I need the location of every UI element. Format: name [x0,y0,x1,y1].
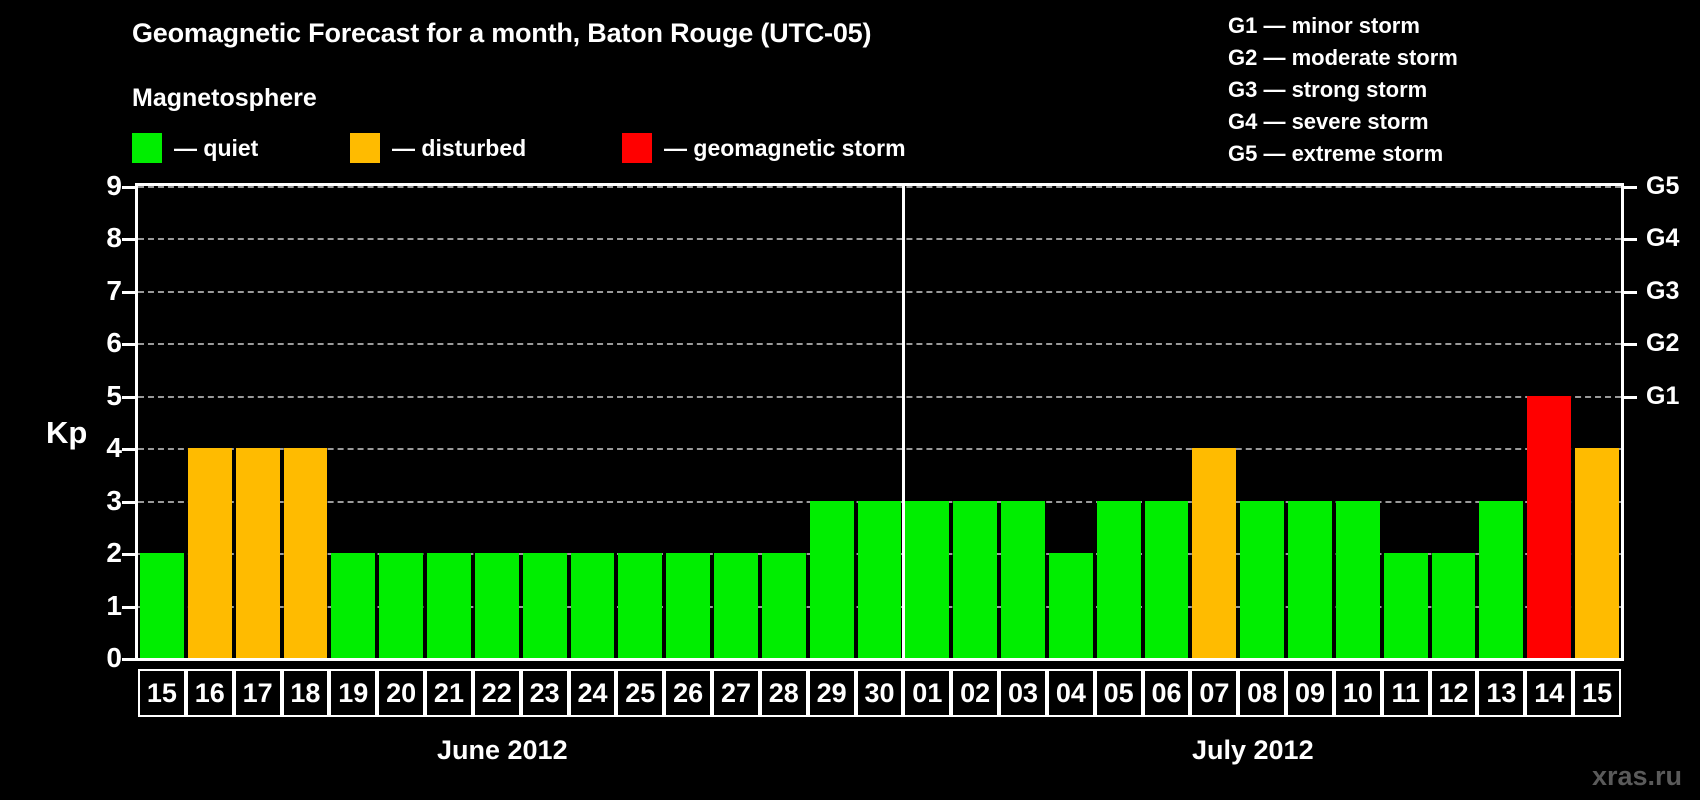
month-caption-june: June 2012 [437,735,568,766]
date-label-22-7[interactable]: 22 [473,669,521,717]
bar-17[interactable] [236,448,280,658]
bar-21[interactable] [427,553,471,658]
bar-12[interactable] [1432,553,1476,658]
g-tick-mark-g5 [1624,186,1637,189]
g-scale-legend-row-g4: G4 — severe storm [1228,106,1458,138]
date-label-18-3[interactable]: 18 [282,669,330,717]
bar-13[interactable] [1479,501,1523,658]
g-tick-mark-g1 [1624,396,1637,399]
bar-04[interactable] [1049,553,1093,658]
bar-09[interactable] [1288,501,1332,658]
date-label-10-25[interactable]: 10 [1334,669,1382,717]
date-label-06-21[interactable]: 06 [1143,669,1191,717]
y-tick-label-8: 8 [82,224,122,252]
date-axis: 1516171819202122232425262728293001020304… [135,669,1624,717]
legend-item-storm: — geomagnetic storm [622,133,906,163]
bar-02[interactable] [953,501,997,658]
y-tick-mark-9 [122,186,135,189]
g-scale-legend-row-g3: G3 — strong storm [1228,74,1458,106]
date-label-30-15[interactable]: 30 [856,669,904,717]
y-tick-label-0: 0 [82,644,122,672]
y-tick-label-9: 9 [82,172,122,200]
g-scale-legend-row-g5: G5 — extreme storm [1228,138,1458,170]
y-tick-mark-3 [122,501,135,504]
date-label-28-13[interactable]: 28 [760,669,808,717]
date-label-16-1[interactable]: 16 [186,669,234,717]
date-label-23-8[interactable]: 23 [521,669,569,717]
g-tick-label-g1: G1 [1646,384,1679,409]
date-label-09-24[interactable]: 09 [1286,669,1334,717]
g-tick-label-g5: G5 [1646,174,1679,199]
bar-24[interactable] [571,553,615,658]
bar-15[interactable] [1575,448,1619,658]
date-label-17-2[interactable]: 17 [234,669,282,717]
bar-16[interactable] [188,448,232,658]
g-tick-label-g4: G4 [1646,226,1679,251]
magnetosphere-label: Magnetosphere [132,84,317,113]
bar-23[interactable] [523,553,567,658]
date-label-15-0[interactable]: 15 [138,669,186,717]
legend-swatch-quiet-icon [132,133,162,163]
g-scale-legend-row-g1: G1 — minor storm [1228,10,1458,42]
bar-30[interactable] [858,501,902,658]
y-tick-mark-2 [122,553,135,556]
bar-29[interactable] [810,501,854,658]
bar-05[interactable] [1097,501,1141,658]
g-tick-label-g2: G2 [1646,331,1679,356]
date-label-12-27[interactable]: 12 [1430,669,1478,717]
page-title: Geomagnetic Forecast for a month, Baton … [132,18,871,49]
date-label-04-19[interactable]: 04 [1047,669,1095,717]
date-label-14-29[interactable]: 14 [1525,669,1573,717]
bar-27[interactable] [714,553,758,658]
bar-08[interactable] [1240,501,1284,658]
date-label-15-30[interactable]: 15 [1573,669,1621,717]
y-tick-mark-4 [122,448,135,451]
bars-layer [138,186,1621,658]
legend-swatch-storm-icon [622,133,652,163]
legend-label-quiet: — quiet [174,135,258,162]
g-tick-mark-g3 [1624,291,1637,294]
date-label-01-16[interactable]: 01 [903,669,951,717]
y-tick-label-6: 6 [82,329,122,357]
legend-swatch-disturbed-icon [350,133,380,163]
date-label-05-20[interactable]: 05 [1095,669,1143,717]
date-label-11-26[interactable]: 11 [1382,669,1430,717]
g-tick-mark-g4 [1624,238,1637,241]
y-tick-mark-6 [122,343,135,346]
y-tick-label-2: 2 [82,539,122,567]
legend-item-quiet: — quiet [132,133,258,163]
g-scale-legend: G1 — minor storm G2 — moderate storm G3 … [1228,10,1458,170]
date-label-08-23[interactable]: 08 [1238,669,1286,717]
date-label-19-4[interactable]: 19 [329,669,377,717]
bar-15[interactable] [140,553,184,658]
plot-inner [138,186,1621,658]
date-label-02-17[interactable]: 02 [951,669,999,717]
bar-03[interactable] [1001,501,1045,658]
legend-label-storm: — geomagnetic storm [664,135,906,162]
y-tick-mark-1 [122,606,135,609]
bar-10[interactable] [1336,501,1380,658]
bar-20[interactable] [379,553,423,658]
date-label-25-10[interactable]: 25 [616,669,664,717]
legend-label-disturbed: — disturbed [392,135,526,162]
date-label-24-9[interactable]: 24 [569,669,617,717]
y-tick-mark-0 [122,658,135,661]
y-tick-mark-8 [122,238,135,241]
date-label-03-18[interactable]: 03 [999,669,1047,717]
bar-22[interactable] [475,553,519,658]
month-caption-july: July 2012 [1192,735,1314,766]
date-label-13-28[interactable]: 13 [1477,669,1525,717]
date-label-27-12[interactable]: 27 [712,669,760,717]
y-tick-label-1: 1 [82,592,122,620]
date-label-20-5[interactable]: 20 [377,669,425,717]
bar-14[interactable] [1527,396,1571,658]
bar-25[interactable] [618,553,662,658]
bar-07[interactable] [1192,448,1236,658]
y-tick-mark-7 [122,291,135,294]
bar-26[interactable] [666,553,710,658]
g-scale-legend-row-g2: G2 — moderate storm [1228,42,1458,74]
date-label-26-11[interactable]: 26 [664,669,712,717]
bar-01[interactable] [905,501,949,658]
bar-28[interactable] [762,553,806,658]
y-tick-mark-5 [122,396,135,399]
y-tick-label-7: 7 [82,277,122,305]
date-label-21-6[interactable]: 21 [425,669,473,717]
plot-area [135,183,1624,661]
g-tick-label-g3: G3 [1646,279,1679,304]
watermark: xras.ru [1592,761,1682,792]
g-tick-mark-g2 [1624,343,1637,346]
bar-18[interactable] [284,448,328,658]
bar-06[interactable] [1145,501,1189,658]
legend-item-disturbed: — disturbed [350,133,526,163]
date-label-07-22[interactable]: 07 [1190,669,1238,717]
y-tick-label-4: 4 [82,434,122,462]
bar-19[interactable] [331,553,375,658]
date-label-29-14[interactable]: 29 [808,669,856,717]
y-tick-label-3: 3 [82,487,122,515]
bar-11[interactable] [1384,553,1428,658]
month-separator [902,186,905,658]
y-tick-label-5: 5 [82,382,122,410]
